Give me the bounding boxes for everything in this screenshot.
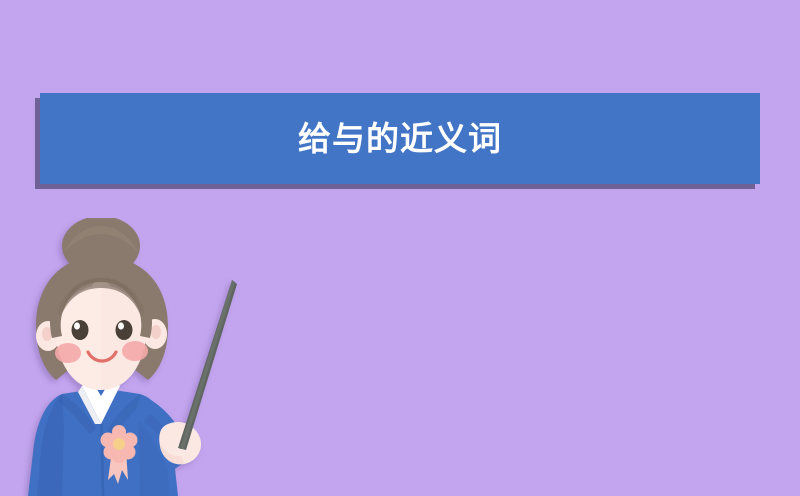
blush-right [122, 341, 148, 361]
eye-left [72, 320, 89, 340]
badge-center [113, 438, 125, 450]
page-title: 给与的近义词 [298, 122, 502, 155]
teacher-illustration [0, 218, 250, 496]
title-banner: 给与的近义词 [40, 93, 760, 184]
pointer-stick [178, 280, 237, 450]
blush-left [55, 343, 81, 363]
eye-right [116, 320, 133, 340]
ear-right-inner [151, 325, 161, 339]
teacher-figure [28, 218, 237, 496]
slide-canvas: 给与的近义词 [0, 0, 800, 496]
